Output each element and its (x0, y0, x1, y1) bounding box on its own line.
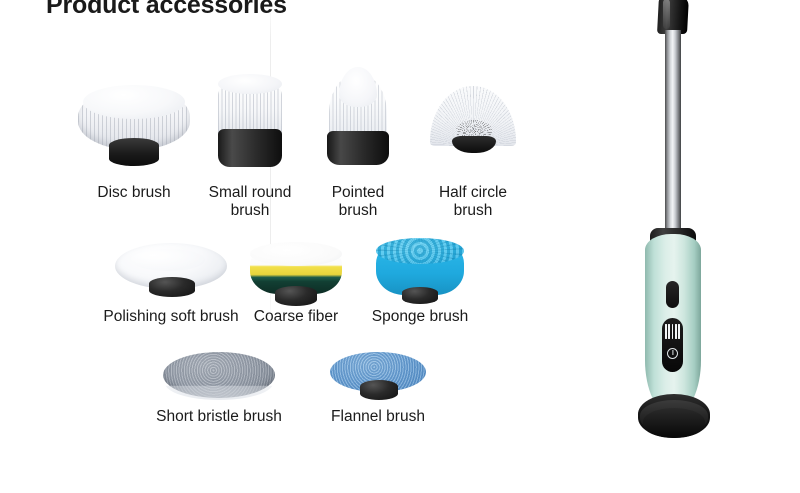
accessory-label-polishing-soft-brush: Polishing soft brush (81, 308, 261, 326)
accessory-label-coarse-fiber: Coarse fiber (244, 308, 348, 326)
accessory-label-half-circle-brush: Half circle brush (422, 184, 524, 220)
battery-level-indicator (665, 324, 680, 339)
power-icon[interactable] (667, 348, 678, 359)
page-title: Product accessories (46, 0, 287, 20)
polishing-soft-brush-hub (149, 277, 195, 297)
handle-top-cap (657, 0, 689, 34)
accessory-label-flannel-brush: Flannel brush (321, 408, 435, 426)
half-circle-brush-base (452, 136, 496, 153)
disc-brush-collar (109, 138, 159, 166)
handle-extension-rod (665, 30, 681, 240)
electric-scrubber-handle (638, 0, 718, 446)
accessory-label-sponge-brush: Sponge brush (365, 308, 475, 326)
product-accessories-image: Product accessories Disc brush Small rou… (0, 0, 800, 493)
accessory-label-disc-brush: Disc brush (65, 184, 203, 202)
accessory-label-short-bristle-brush: Short bristle brush (142, 408, 296, 426)
disc-brush-top (83, 85, 185, 119)
sponge-brush-hub (402, 287, 438, 304)
small-round-brush-top (218, 74, 282, 94)
coarse-fiber-top (250, 242, 342, 266)
pointed-brush-collar (327, 131, 389, 165)
accessory-label-small-round-brush: Small round brush (201, 184, 299, 220)
pointed-brush-tip (339, 67, 377, 107)
polishing-soft-brush-fold (131, 249, 205, 271)
flannel-brush-hub (360, 380, 398, 400)
small-round-brush-collar (218, 129, 282, 167)
coarse-fiber-hub (275, 286, 317, 306)
handle-release-button[interactable] (666, 281, 679, 308)
handle-cap-highlight (663, 0, 670, 29)
handle-base-ring-inner (643, 408, 705, 438)
sponge-brush-top (376, 238, 464, 264)
accessory-label-pointed-brush: Pointed brush (310, 184, 406, 220)
